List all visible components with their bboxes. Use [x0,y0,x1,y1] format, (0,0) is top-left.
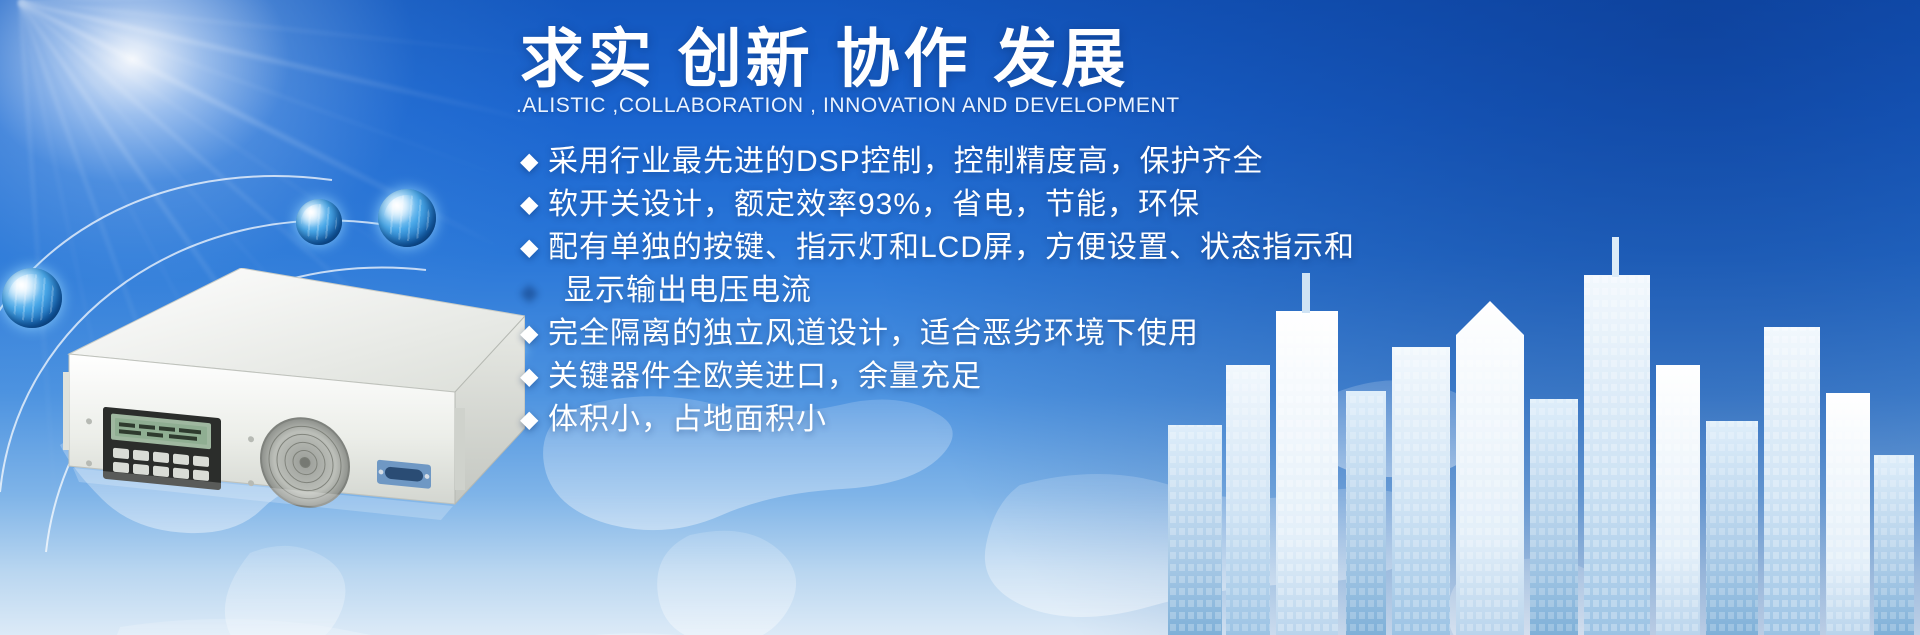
diamond-bullet-icon: ◆ [520,140,548,183]
list-item-label: 采用行业最先进的DSP控制，控制精度高，保护齐全 [548,140,1264,183]
feature-list: ◆ 采用行业最先进的DSP控制，控制精度高，保护齐全 ◆ 软开关设计，额定效率9… [520,140,1480,441]
diamond-bullet-icon: ◆ [520,226,548,269]
product-image-rack-power-supply [55,268,525,530]
list-item-label: 配有单独的按键、指示灯和LCD屏，方便设置、状态指示和 [548,226,1355,269]
bullet-spacer: ◆ [520,269,548,312]
list-item: ◆ 软开关设计，额定效率93%，省电，节能，环保 [520,183,1480,226]
page-subtitle: .ALISTIC ,COLLABORATION , INNOVATION AND… [516,94,1180,118]
list-item: ◆ 关键器件全欧美进口，余量充足 [520,355,1480,398]
page-title: 求实 创新 协作 发展 [520,22,1129,98]
list-item: ◆ 体积小，占地面积小 [520,398,1480,441]
list-item-label: 完全隔离的独立风道设计，适合恶劣环境下使用 [548,312,1199,355]
list-item: ◆ 采用行业最先进的DSP控制，控制精度高，保护齐全 [520,140,1480,183]
diamond-bullet-icon: ◆ [520,398,548,441]
list-item-label: 软开关设计，额定效率93%，省电，节能，环保 [548,183,1200,226]
globe-bead-icon [378,189,436,247]
diamond-bullet-icon: ◆ [520,355,548,398]
list-item-label: 关键器件全欧美进口，余量充足 [548,355,982,398]
list-item-continuation: ◆ 显示输出电压电流 [520,269,1480,312]
list-item: ◆ 配有单独的按键、指示灯和LCD屏，方便设置、状态指示和 [520,226,1480,269]
list-item: ◆ 完全隔离的独立风道设计，适合恶劣环境下使用 [520,312,1480,355]
list-item-label: 显示输出电压电流 [548,269,812,312]
globe-bead-icon [2,268,62,328]
list-item-label: 体积小，占地面积小 [548,398,827,441]
diamond-bullet-icon: ◆ [520,312,548,355]
globe-bead-icon [296,199,342,245]
promo-banner: 求实 创新 协作 发展 .ALISTIC ,COLLABORATION , IN… [0,0,1920,635]
diamond-bullet-icon: ◆ [520,183,548,226]
